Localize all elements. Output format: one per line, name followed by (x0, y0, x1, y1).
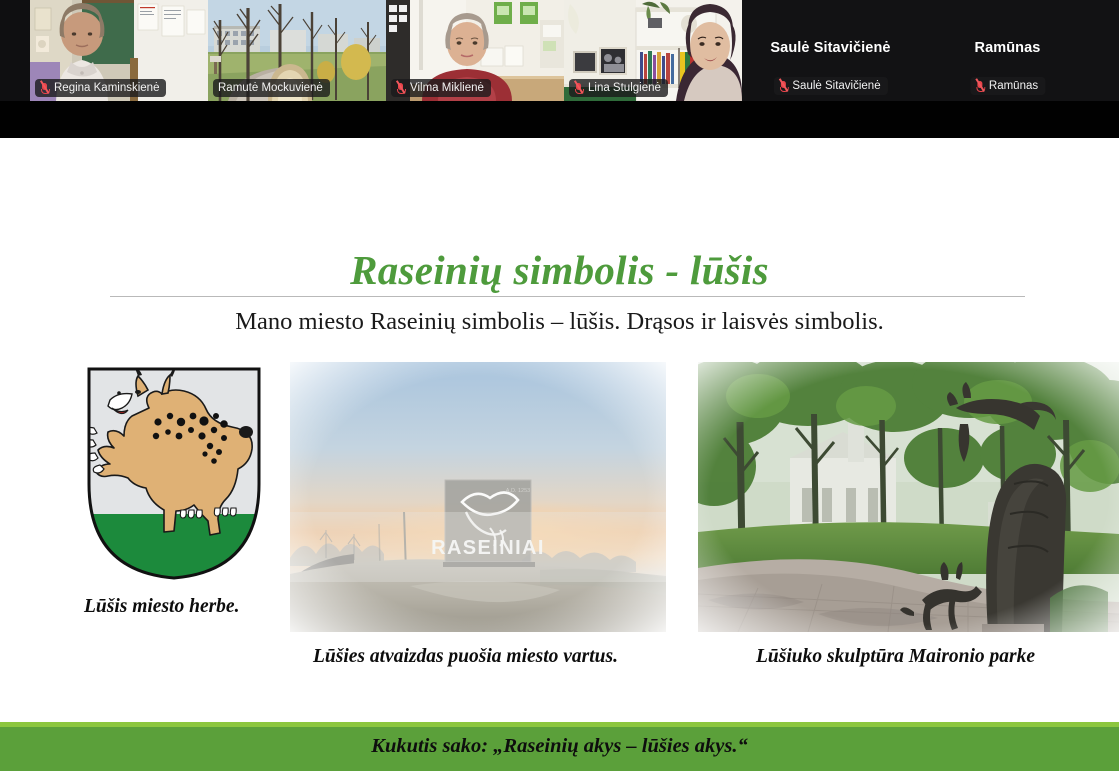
audio-participant-display-name: Saulė Sitavičienė (742, 40, 919, 56)
figure-caption-city-gate: Lūšies atvaizdas puošia miesto vartus. (313, 646, 618, 668)
figure-photo-park-sculpture (698, 362, 1119, 632)
letterbox-gap (0, 101, 1119, 138)
figure-photo-city-gate: RASEINIAI A.D. 1253 (290, 362, 666, 632)
slide-bottom-banner: Kukutis sako: „Raseinių akys – lūšies ak… (0, 722, 1119, 771)
participant-name-pill: Ramūnas (970, 77, 1045, 95)
strip-left-padding (0, 0, 30, 101)
video-tile-regina-kaminskiene[interactable]: Regina Kaminskienė (30, 0, 208, 101)
shared-screen-slide: Raseinių simbolis - lūšis Mano miesto Ra… (0, 138, 1119, 771)
mic-muted-icon (574, 82, 584, 95)
participant-name-pill: Lina Stulgienė (569, 79, 668, 97)
mic-muted-icon (396, 82, 406, 95)
figure-caption-coat-of-arms: Lūšis miesto herbe. (84, 596, 239, 618)
participant-name: Vilma Miklienė (410, 81, 484, 95)
participant-name-pill: Saulė Sitavičienė (773, 77, 887, 95)
participant-name: Saulė Sitavičienė (792, 79, 880, 93)
photo-foggy-dawn-city-gate: RASEINIAI A.D. 1253 (290, 362, 666, 632)
photo-maironis-park-lynx-sculpture (698, 362, 1119, 632)
figure-caption-park-sculpture: Lūšiuko skulptūra Maironio parke (756, 646, 1035, 668)
video-tile-lina-stulgiene[interactable]: Lina Stulgienė (564, 0, 742, 101)
mic-muted-icon (975, 80, 985, 93)
coat-of-arms-figure (86, 366, 262, 581)
participant-name: Ramūnas (989, 79, 1038, 93)
raseiniai-coat-of-arms-icon (86, 366, 262, 581)
video-tile-vilma-mikliene[interactable]: Vilma Miklienė (386, 0, 564, 101)
participant-name-pill: Regina Kaminskienė (35, 79, 166, 97)
slide-title: Raseinių simbolis - lūšis (0, 246, 1119, 294)
title-divider (110, 296, 1025, 297)
participant-name: Regina Kaminskienė (54, 81, 159, 95)
participant-video-strip: Regina Kaminskienė (0, 0, 1119, 101)
participant-name-pill: Ramutė Mockuvienė (213, 79, 330, 97)
audio-tile-ramunas[interactable]: Ramūnas Ramūnas (919, 0, 1096, 101)
participant-name: Ramutė Mockuvienė (218, 81, 323, 95)
mic-muted-icon (778, 80, 788, 93)
slide-subtitle: Mano miesto Raseinių simbolis – lūšis. D… (0, 306, 1119, 338)
zoom-meeting-window: Regina Kaminskienė (0, 0, 1119, 771)
audio-only-participants: Saulė Sitavičienė Saulė Sitavičienė Ramū… (742, 0, 1119, 101)
audio-tile-saule-sitaviciene[interactable]: Saulė Sitavičienė Saulė Sitavičienė (742, 0, 919, 101)
audio-participant-display-name: Ramūnas (919, 40, 1096, 56)
mic-muted-icon (40, 82, 50, 95)
participant-name: Lina Stulgienė (588, 81, 661, 95)
participant-name-pill: Vilma Miklienė (391, 79, 491, 97)
banner-accent-strip (0, 722, 1119, 727)
banner-quote: Kukutis sako: „Raseinių akys – lūšies ak… (0, 735, 1119, 758)
video-tile-ramute-mockuviene[interactable]: Ramutė Mockuvienė (208, 0, 386, 101)
